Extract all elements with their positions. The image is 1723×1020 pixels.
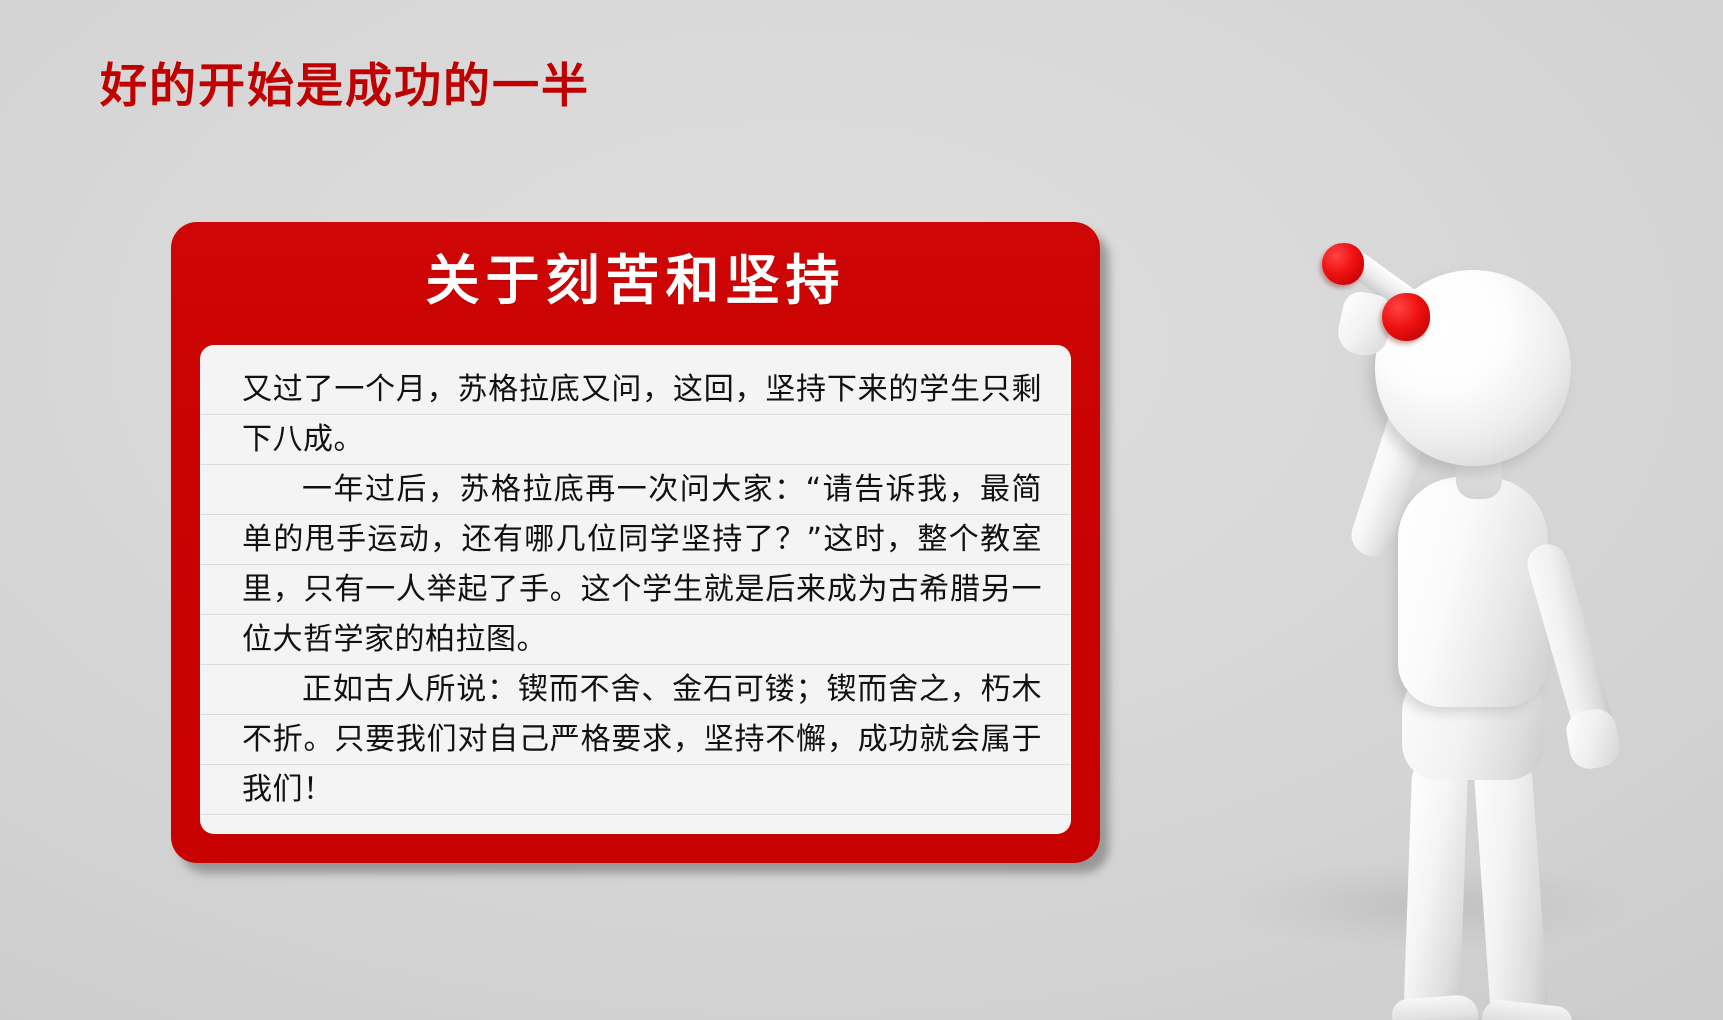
dumbbell-weight-bottom-icon [1382, 293, 1430, 341]
note-body: 又过了一个月，苏格拉底又问，这回，坚持下来的学生只剩下八成。 一年过后，苏格拉底… [242, 365, 1042, 815]
lined-note-panel: 又过了一个月，苏格拉底又问，这回，坚持下来的学生只剩下八成。 一年过后，苏格拉底… [200, 345, 1071, 834]
page-title: 好的开始是成功的一半 [100, 58, 590, 114]
figure-hand-right [1563, 706, 1622, 772]
dumbbell-weight-top-icon [1322, 243, 1364, 285]
story-card: 关于刻苦和坚持 又过了一个月，苏格拉底又问，这回，坚持下来的学生只剩下八成。 一… [171, 222, 1100, 863]
note-paragraph: 一年过后，苏格拉底再一次问大家：“请告诉我，最简单的甩手运动，还有哪几位同学坚持… [242, 465, 1042, 665]
mannequin-figure [1170, 215, 1690, 905]
slide-canvas: 好的开始是成功的一半 关于刻苦和坚持 又过了一个月，苏格拉底又问，这回，坚持下来… [0, 0, 1723, 1020]
card-header: 关于刻苦和坚持 [171, 222, 1100, 342]
note-paragraph: 又过了一个月，苏格拉底又问，这回，坚持下来的学生只剩下八成。 [242, 365, 1042, 465]
figure-leg-right [1473, 753, 1549, 1020]
card-header-title: 关于刻苦和坚持 [426, 252, 846, 311]
figure-torso [1398, 477, 1548, 707]
note-paragraph: 正如古人所说：锲而不舍、金石可镂；锲而舍之，朽木不折。只要我们对自己严格要求，坚… [242, 665, 1042, 815]
figure-leg-left [1403, 754, 1468, 1016]
